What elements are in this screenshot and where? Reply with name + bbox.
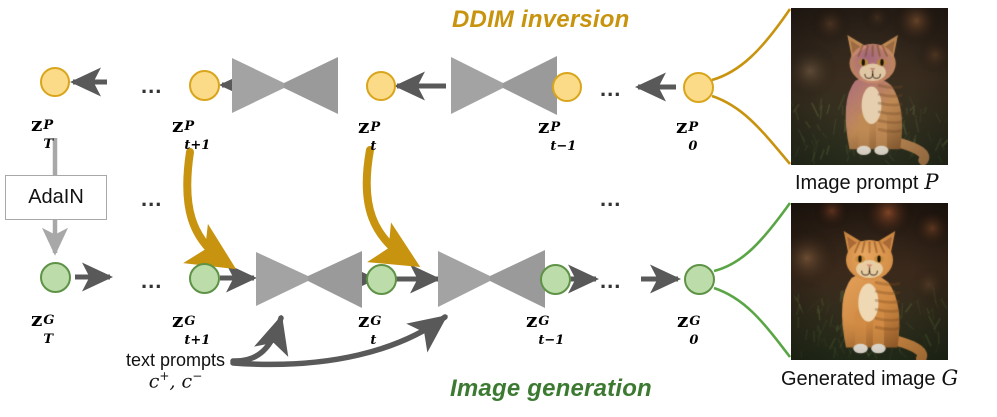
generated-image-caption: Generated imageG <box>781 366 958 391</box>
node-z-t1-G[interactable] <box>189 263 220 294</box>
label-z-t-P: z P t <box>358 114 369 138</box>
label-sup: P <box>43 118 53 133</box>
label-base: z <box>538 114 549 138</box>
cat-photo-prompt <box>791 8 948 165</box>
label-sub: t <box>370 333 376 348</box>
label-base: z <box>31 112 42 136</box>
label-sub: t−1 <box>538 333 564 348</box>
ellipsis-bottom-right: ... <box>600 270 621 292</box>
unet-top-2 <box>451 56 557 115</box>
label-z-t-G: z G t <box>358 308 369 332</box>
node-z-0-G[interactable] <box>684 264 715 295</box>
image-prompt-text: Image prompt <box>795 172 918 194</box>
image-prompt-caption: Image promptP <box>795 170 939 195</box>
minus-sign: − <box>192 369 202 383</box>
label-base: z <box>31 307 42 331</box>
ellipsis-mid-right: ... <box>600 188 621 210</box>
generated-image-symbol: G <box>936 366 959 390</box>
label-z-0-P: z P 0 <box>676 114 687 138</box>
prompt-image-fan <box>712 9 790 164</box>
label-sub: t+1 <box>184 138 210 153</box>
label-sup: G <box>43 313 54 328</box>
label-z-T-G: z G T <box>31 307 42 331</box>
image-generation-title: Image generation <box>450 375 652 403</box>
c-plus: c <box>149 370 160 392</box>
unet-bottom-2 <box>438 250 545 308</box>
label-base: z <box>676 114 687 138</box>
text-prompts-line1: text prompts <box>118 350 233 370</box>
cat-photo-generated <box>791 203 948 360</box>
adain-label: AdaIN <box>28 186 84 209</box>
node-z-t-1-G[interactable] <box>540 264 571 295</box>
text-prompts-label: text prompts c+, c− <box>118 350 233 393</box>
label-sub: T <box>43 332 53 347</box>
label-base: z <box>526 308 537 332</box>
label-base: z <box>358 114 369 138</box>
node-z-t-G[interactable] <box>366 264 397 295</box>
generated-image-fan <box>714 203 790 357</box>
label-sub: T <box>43 137 53 152</box>
label-sub: t+1 <box>184 333 210 348</box>
node-z-t-1-P[interactable] <box>552 72 582 102</box>
adain-block[interactable]: AdaIN <box>5 175 107 220</box>
ellipsis-top-right: ... <box>600 78 621 100</box>
generated-image-photo[interactable] <box>791 203 948 360</box>
label-z-T-P: z P T <box>31 112 42 136</box>
plus-sign: + <box>159 369 169 383</box>
text-prompts-line2: c+, c− <box>118 370 233 393</box>
label-z-t1-P: z P t+1 <box>172 113 183 137</box>
generated-image-text: Generated image <box>781 368 936 390</box>
label-base: z <box>677 308 688 332</box>
label-z-t-1-G: z G t−1 <box>526 308 537 332</box>
label-sup: G <box>370 314 381 329</box>
image-prompt-symbol: P <box>918 170 938 194</box>
label-sub: 0 <box>688 139 697 154</box>
node-z-T-G[interactable] <box>40 262 71 293</box>
label-sup: P <box>184 119 194 134</box>
ellipsis-mid-left: ... <box>141 188 162 210</box>
label-base: z <box>172 308 183 332</box>
node-z-t-P[interactable] <box>366 71 396 101</box>
node-z-T-P[interactable] <box>40 67 70 97</box>
image-prompt-photo[interactable] <box>791 8 948 165</box>
diagram-canvas: z P T z P t+1 z P t z P t−1 z P 0 z G T <box>0 0 997 417</box>
ddim-inversion-title: DDIM inversion <box>452 6 630 34</box>
label-sub: t <box>370 139 376 154</box>
label-sub: t−1 <box>550 139 576 154</box>
unet-top-1 <box>232 57 338 114</box>
label-sup: P <box>688 120 698 135</box>
c-minus: c <box>182 370 193 392</box>
label-sup: G <box>538 314 549 329</box>
node-z-0-P[interactable] <box>683 72 714 103</box>
unet-bottom-1 <box>256 251 362 308</box>
ellipsis-top-left: ... <box>141 75 162 97</box>
label-z-t1-G: z G t+1 <box>172 308 183 332</box>
label-z-t-1-P: z P t−1 <box>538 114 549 138</box>
node-z-t1-P[interactable] <box>189 70 220 101</box>
comma: , <box>169 370 181 392</box>
label-sup: G <box>184 314 195 329</box>
label-sup: P <box>370 120 380 135</box>
label-sup: P <box>550 120 560 135</box>
label-sub: 0 <box>689 333 698 348</box>
label-base: z <box>172 113 183 137</box>
text-prompt-arrows <box>233 317 445 364</box>
label-base: z <box>358 308 369 332</box>
label-sup: G <box>689 314 700 329</box>
ellipsis-bottom-left: ... <box>141 270 162 292</box>
gold-injection-arrows <box>187 150 412 264</box>
label-z-0-G: z G 0 <box>677 308 688 332</box>
